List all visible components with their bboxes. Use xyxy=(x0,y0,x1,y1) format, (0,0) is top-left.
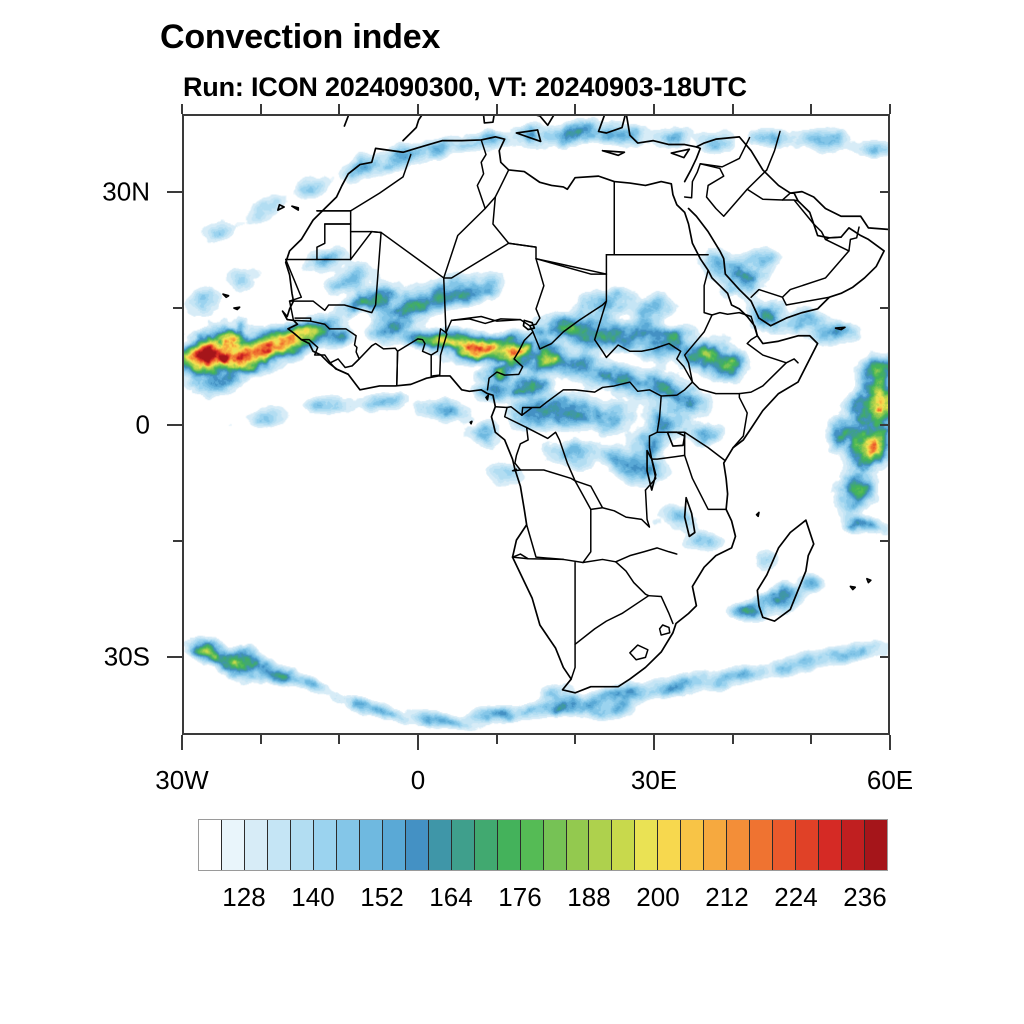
colorbar-cell[interactable] xyxy=(498,820,521,870)
colorbar-cell[interactable] xyxy=(635,820,658,870)
colorbar-tick-label: 128 xyxy=(204,882,284,913)
y-axis-label: 30N xyxy=(20,176,150,207)
colorbar-cell[interactable] xyxy=(360,820,383,870)
colorbar-cell[interactable] xyxy=(773,820,796,870)
colorbar-cell[interactable] xyxy=(567,820,590,870)
x-tick-inner xyxy=(574,104,576,114)
x-tick xyxy=(889,735,891,750)
x-axis-label: 0 xyxy=(348,765,488,796)
x-tick xyxy=(810,735,812,744)
colorbar-cell[interactable] xyxy=(727,820,750,870)
colorbar-tick-label: 236 xyxy=(825,882,905,913)
y-tick-inner xyxy=(880,424,890,426)
colorbar-cell[interactable] xyxy=(291,820,314,870)
y-tick-inner xyxy=(880,307,890,309)
y-tick xyxy=(167,424,182,426)
colorbar-cell[interactable] xyxy=(475,820,498,870)
y-axis-label: 0 xyxy=(20,409,150,440)
colorbar-tick-label: 152 xyxy=(342,882,422,913)
y-tick-inner xyxy=(880,191,890,193)
x-tick-inner xyxy=(338,104,340,114)
x-axis-label: 60E xyxy=(820,765,960,796)
colorbar-tick-label: 140 xyxy=(273,882,353,913)
x-axis-label: 30E xyxy=(584,765,724,796)
map-coastlines-and-borders xyxy=(184,116,888,733)
y-axis-label: 30S xyxy=(20,642,150,673)
y-tick-inner xyxy=(880,656,890,658)
x-tick xyxy=(181,735,183,750)
x-tick xyxy=(338,735,340,744)
colorbar-labels: 128140152164176188200212224236 xyxy=(198,882,888,916)
colorbar-tick-label: 164 xyxy=(411,882,491,913)
colorbar[interactable] xyxy=(198,819,888,871)
colorbar-cell[interactable] xyxy=(268,820,291,870)
colorbar-cell[interactable] xyxy=(819,820,842,870)
x-tick xyxy=(653,735,655,750)
colorbar-cell[interactable] xyxy=(612,820,635,870)
colorbar-cell[interactable] xyxy=(222,820,245,870)
colorbar-cell[interactable] xyxy=(199,820,222,870)
page-title: Convection index xyxy=(160,18,440,57)
x-tick xyxy=(260,735,262,744)
x-tick-inner xyxy=(496,104,498,114)
colorbar-cell[interactable] xyxy=(796,820,819,870)
colorbar-cell[interactable] xyxy=(704,820,727,870)
colorbar-cell[interactable] xyxy=(245,820,268,870)
run-valid-time-subtitle: Run: ICON 2024090300, VT: 20240903-18UTC xyxy=(183,72,747,103)
colorbar-cell[interactable] xyxy=(589,820,612,870)
x-tick-inner xyxy=(181,104,183,114)
colorbar-tick-label: 224 xyxy=(756,882,836,913)
colorbar-cell[interactable] xyxy=(406,820,429,870)
x-tick-inner xyxy=(889,104,891,114)
x-tick-inner xyxy=(732,104,734,114)
y-tick xyxy=(173,540,182,542)
colorbar-cell[interactable] xyxy=(842,820,865,870)
colorbar-cell[interactable] xyxy=(544,820,567,870)
x-tick-inner xyxy=(653,104,655,114)
colorbar-tick-label: 200 xyxy=(618,882,698,913)
x-tick xyxy=(496,735,498,744)
x-tick xyxy=(417,735,419,750)
colorbar-cell[interactable] xyxy=(658,820,681,870)
colorbar-cell[interactable] xyxy=(337,820,360,870)
x-tick-inner xyxy=(260,104,262,114)
colorbar-cell[interactable] xyxy=(681,820,704,870)
x-tick xyxy=(732,735,734,744)
y-tick xyxy=(167,656,182,658)
colorbar-cell[interactable] xyxy=(452,820,475,870)
y-tick-inner xyxy=(880,540,890,542)
y-tick xyxy=(173,307,182,309)
colorbar-tick-label: 212 xyxy=(687,882,767,913)
y-tick xyxy=(167,191,182,193)
colorbar-cell[interactable] xyxy=(750,820,773,870)
colorbar-cell[interactable] xyxy=(865,820,887,870)
colorbar-tick-label: 188 xyxy=(549,882,629,913)
x-tick-inner xyxy=(417,104,419,114)
x-tick xyxy=(574,735,576,744)
colorbar-cell[interactable] xyxy=(429,820,452,870)
x-tick-inner xyxy=(810,104,812,114)
colorbar-tick-label: 176 xyxy=(480,882,560,913)
colorbar-cell[interactable] xyxy=(521,820,544,870)
x-axis-label: 30W xyxy=(112,765,252,796)
colorbar-cell[interactable] xyxy=(314,820,337,870)
colorbar-cell[interactable] xyxy=(383,820,406,870)
map-plot-area[interactable] xyxy=(182,114,890,735)
